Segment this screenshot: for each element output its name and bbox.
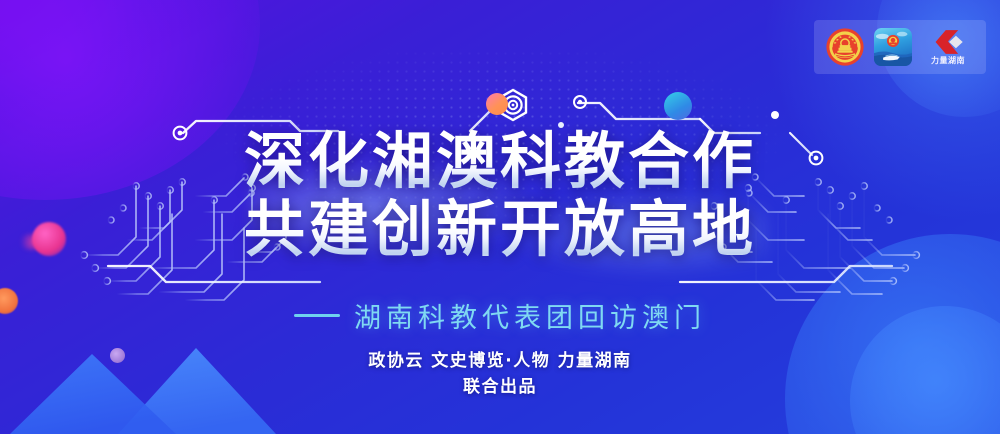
banner-poster: 深化湘澳科教合作 共建创新开放高地 湖南科教代表团回访澳门 政协云 文史博览·人…: [0, 0, 1000, 434]
cppcc-emblem-logo[interactable]: [826, 28, 864, 66]
credits-block: 政协云 文史博览·人物 力量湖南 联合出品: [0, 348, 1000, 400]
lizhi-hunan-logo[interactable]: 力量湖南: [922, 27, 974, 67]
logo-bar: 力量湖南: [814, 20, 986, 74]
credit-line-1: 政协云 文史博览·人物 力量湖南: [0, 348, 1000, 374]
headline-line-2: 共建创新开放高地: [0, 196, 1000, 264]
wenshibolan-app-logo[interactable]: [874, 28, 912, 66]
credit-line-2: 联合出品: [0, 374, 1000, 400]
headline-line-1: 深化湘澳科教合作: [0, 128, 1000, 196]
subtitle-text: 湖南科教代表团回访澳门: [354, 296, 706, 335]
lizhi-hunan-label: 力量湖南: [931, 56, 965, 65]
lizhi-hunan-mark-icon: [931, 29, 965, 55]
headline-block: 深化湘澳科教合作 共建创新开放高地: [0, 128, 1000, 264]
subtitle-dash-icon: [294, 314, 340, 317]
subtitle-row: 湖南科教代表团回访澳门: [0, 296, 1000, 335]
